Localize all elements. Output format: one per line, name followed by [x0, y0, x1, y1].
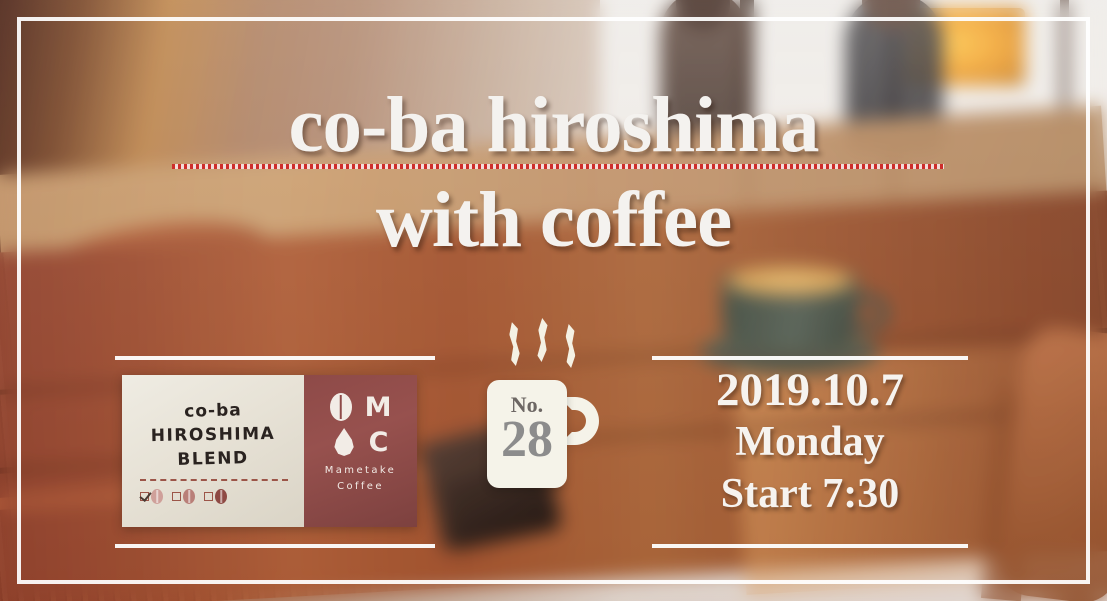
event-weekday: Monday: [652, 416, 968, 469]
logo-letter-m: M: [365, 394, 392, 421]
steam-squiggle: [565, 324, 576, 368]
handwritten-line-2: HIROSHIMA: [122, 423, 304, 446]
right-rule-top: [652, 356, 968, 360]
brand-name-line-2: Coffee: [304, 479, 417, 495]
roast-level-scale: [140, 489, 290, 504]
event-date: 2019.10.7: [652, 366, 968, 416]
coffee-label-front: co-ba HIROSHIMA BLEND: [122, 375, 304, 527]
roast-option[interactable]: [172, 489, 195, 504]
handwritten-line-3: BLEND: [122, 447, 304, 472]
event-date-block: 2019.10.7 Monday Start 7:30: [652, 366, 968, 521]
coffee-bean-icon: [330, 393, 352, 421]
event-banner: co-ba hiroshima with coffee co-ba HIROSH…: [0, 0, 1107, 601]
logo-row-top: M: [304, 393, 417, 421]
title-line-2: with coffee: [0, 181, 1107, 260]
roast-checkbox[interactable]: [204, 492, 213, 501]
title-line-1: co-ba hiroshima: [0, 86, 1107, 165]
steam-icon: [508, 318, 582, 364]
event-start-time: Start 7:30: [652, 468, 968, 521]
mametake-logo: M C Mametake Coffee: [304, 393, 417, 494]
steam-squiggle: [508, 322, 520, 367]
left-rule-bottom: [115, 544, 435, 548]
logo-row-bottom: C: [304, 428, 417, 456]
steam-squiggle: [537, 318, 548, 362]
water-drop-icon: [333, 428, 356, 456]
roast-option[interactable]: [204, 489, 227, 504]
coffee-bean-icon: [183, 489, 195, 504]
logo-letter-c: C: [369, 429, 389, 456]
roast-checkbox[interactable]: [172, 492, 181, 501]
coffee-bag-label: co-ba HIROSHIMA BLEND: [122, 375, 417, 527]
mametake-brand-card: M C Mametake Coffee: [304, 375, 417, 527]
coffee-bean-icon: [215, 489, 227, 504]
title-gingham-underline: [172, 164, 944, 169]
brand-name: Mametake Coffee: [304, 463, 417, 494]
label-dashed-divider: [140, 479, 288, 481]
brand-name-line-1: Mametake: [304, 463, 417, 479]
event-number: 28: [487, 414, 567, 466]
roast-option[interactable]: [140, 489, 163, 504]
left-rule-top: [115, 356, 435, 360]
handwritten-line-1: co-ba: [122, 399, 304, 424]
right-rule-bottom: [652, 544, 968, 548]
coffee-bean-icon: [151, 489, 163, 504]
roast-checkbox-checked[interactable]: [140, 492, 149, 501]
coffee-mug-icon: No. 28: [487, 380, 567, 488]
banner-title: co-ba hiroshima with coffee: [0, 86, 1107, 260]
